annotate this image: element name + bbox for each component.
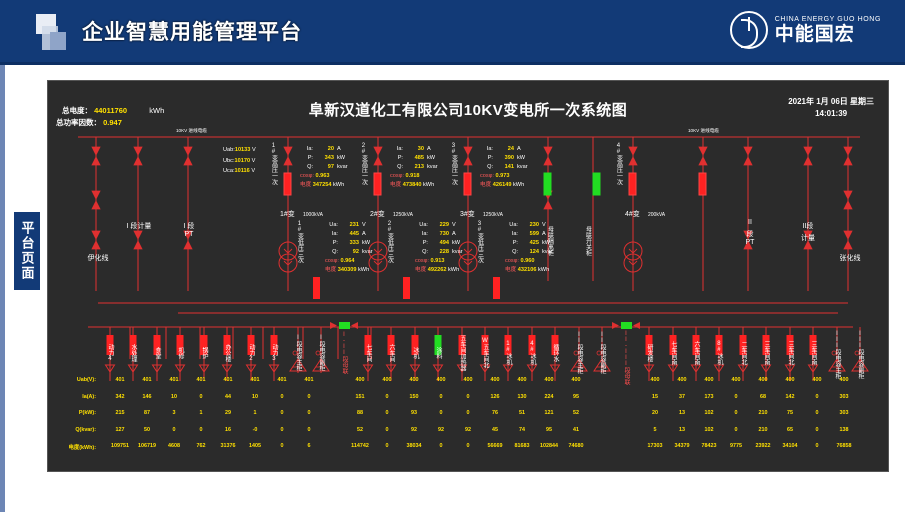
table-cell: 0: [298, 394, 320, 400]
table-cell: 75: [779, 410, 801, 416]
table-cell: 37: [671, 394, 693, 400]
table-cell: 400: [457, 377, 479, 383]
table-cell: 17303: [644, 443, 666, 449]
table-cell: 342: [109, 394, 131, 400]
table-cell: 0: [271, 410, 293, 416]
feeder-label[interactable]: 涂料: [435, 331, 441, 375]
table-cell: 81683: [511, 443, 533, 449]
table-row-label: Uab(V):: [54, 377, 96, 383]
table-cell: 3: [163, 410, 185, 416]
table-cell: 401: [109, 377, 131, 383]
table-cell: 4608: [163, 443, 185, 449]
table-cell: 38034: [403, 443, 425, 449]
table-cell: 0: [806, 394, 828, 400]
lv-meter-label-2: 2#变低压三次: [386, 219, 392, 265]
table-cell: 400: [833, 377, 855, 383]
feeder-label[interactable]: 三车间北: [787, 331, 793, 375]
table-cell: 0: [271, 427, 293, 433]
transformer-tag-3: 3#变: [460, 209, 475, 219]
table-cell: 0: [806, 410, 828, 416]
table-cell: 121: [538, 410, 560, 416]
single-line-diagram-panel: 总电度： 44011760 kWh 总功率因数： 0.947 阜新汉道化工有限公…: [47, 80, 889, 472]
table-cell: 0: [457, 394, 479, 400]
table-cell: 1: [190, 410, 212, 416]
feeder-label[interactable]: 三车间南: [810, 331, 816, 375]
table-cell: 0: [430, 410, 452, 416]
table-cell: 142: [779, 394, 801, 400]
hv-cabinet-label-8: 张化线: [828, 253, 872, 263]
feeder-label[interactable]: 动力4: [107, 331, 113, 375]
table-cell: 138: [833, 427, 855, 433]
transformer-rating-1: 1000kVA: [303, 212, 323, 218]
table-cell: 102844: [538, 443, 560, 449]
lv-meter-block-1: Ua:231V Ia:445A P:333kW Q:92kvar cosφ: 0…: [325, 221, 373, 275]
brand-mark-icon: [730, 11, 768, 49]
table-row: Ia(A):3421461004410001510150001261302249…: [54, 394, 884, 411]
feeder-label[interactable]: 办公楼: [224, 331, 230, 375]
table-cell: 9775: [725, 443, 747, 449]
table-cell: 400: [779, 377, 801, 383]
table-cell: 303: [833, 410, 855, 416]
table-cell: 0: [806, 443, 828, 449]
hv-cabinet-label-3: I 段: [166, 221, 212, 231]
feeder-label[interactable]: 锅炉: [201, 331, 207, 375]
feeder-label[interactable]: I段电容副柜: [318, 331, 324, 375]
table-cell: 50: [136, 427, 158, 433]
table-cell: 401: [163, 377, 185, 383]
feeder-label[interactable]: 研发楼: [646, 331, 652, 375]
feeder-label[interactable]: 8#冰机: [716, 331, 722, 375]
hv-meter-label-4: 4#变高压一次: [615, 143, 621, 185]
table-cell: 45: [484, 427, 506, 433]
hv-cabinet-label-5: 母联开关柜: [584, 221, 590, 261]
table-cell: 400: [565, 377, 587, 383]
table-cell: 74: [511, 427, 533, 433]
sidebar-item-platform-page[interactable]: 平台页面: [14, 212, 40, 290]
transformer-tag-2: 2#变: [370, 209, 385, 219]
hv-cabinet-label-6: II: [728, 219, 772, 226]
table-cell: 78423: [698, 443, 720, 449]
table-cell: 400: [538, 377, 560, 383]
feeder-label[interactable]: 4#冰机: [529, 331, 535, 375]
feeder-label[interactable]: 动力3: [271, 331, 277, 375]
table-cell: 65: [779, 427, 801, 433]
screen-root: 企业智慧用能管理平台 CHINA ENERGY GUO HONG 中能国宏 平台…: [0, 0, 905, 512]
table-cell: 0: [163, 427, 185, 433]
table-cell: 13: [671, 410, 693, 416]
table-cell: 151: [349, 394, 371, 400]
table-cell: 0: [725, 410, 747, 416]
table-cell: 0: [376, 427, 398, 433]
feeder-label[interactable]: 七车间: [365, 331, 371, 375]
table-cell: 210: [752, 427, 774, 433]
bus-voltage-readout: Uab:10133 V Ubc:10170 V Uca:10116 V: [223, 145, 256, 177]
table-cell: 401: [244, 377, 266, 383]
table-cell: 10: [163, 394, 185, 400]
feeder-label[interactable]: 三车间南: [763, 331, 769, 375]
table-cell: 31376: [217, 443, 239, 449]
hv-meter-block-3: Ia:24A P:390kW Q:141kvar cosφ: 0.973 电度 …: [480, 145, 528, 190]
table-cell: 34379: [671, 443, 693, 449]
header-divider: [0, 62, 905, 65]
table-cell: 401: [298, 377, 320, 383]
feeder-label[interactable]: III段电容主柜: [834, 331, 840, 375]
table-cell: 109751: [109, 443, 131, 449]
measurement-table: Uab(V):401401401401401401401401400400400…: [54, 377, 884, 460]
table-cell: 106719: [136, 443, 158, 449]
transformer-tag-1: 1#变: [280, 209, 295, 219]
table-cell: 400: [725, 377, 747, 383]
feeder-label[interactable]: III段电容副柜: [857, 331, 863, 375]
bus-tie-label[interactable]: II-III段母联: [623, 331, 629, 375]
table-cell: 400: [644, 377, 666, 383]
table-cell: 146: [136, 394, 158, 400]
table-cell: 0: [298, 410, 320, 416]
table-cell: 29: [217, 410, 239, 416]
table-cell: 224: [538, 394, 560, 400]
hv-cabinet-label-6b: 段: [728, 229, 772, 239]
table-cell: 0: [376, 394, 398, 400]
table-cell: 400: [484, 377, 506, 383]
table-cell: 5: [644, 427, 666, 433]
table-cell: 76: [484, 410, 506, 416]
feeder-label[interactable]: 食堂: [154, 331, 160, 375]
table-cell: 0: [190, 394, 212, 400]
table-row: 电度(kWh):10975110671946087623137614050611…: [54, 443, 884, 460]
table-cell: 68: [752, 394, 774, 400]
table-cell: 400: [671, 377, 693, 383]
table-cell: 0: [725, 427, 747, 433]
table-cell: 51: [511, 410, 533, 416]
table-cell: -0: [244, 427, 266, 433]
table-cell: 173: [698, 394, 720, 400]
table-cell: 0: [457, 443, 479, 449]
table-cell: 0: [725, 394, 747, 400]
hv-cabinet-label-1: 伊化线: [76, 253, 120, 263]
lv-meter-label-1: 1#变低压三次: [296, 219, 302, 265]
table-cell: 762: [190, 443, 212, 449]
table-cell: 127: [109, 427, 131, 433]
feeder-label[interactable]: 机修: [177, 331, 183, 375]
table-cell: 215: [109, 410, 131, 416]
hv-cabinet-label-7: II段: [784, 221, 832, 231]
table-cell: 400: [511, 377, 533, 383]
table-row: Uab(V):401401401401401401401401400400400…: [54, 377, 884, 394]
table-cell: 0: [271, 443, 293, 449]
feeder-label[interactable]: 动力2: [248, 331, 254, 375]
table-cell: 76858: [833, 443, 855, 449]
table-cell: 1: [244, 410, 266, 416]
hv-cabinet-label-4: 母联隔离柜: [546, 221, 552, 261]
hv-meter-block-2: Ia:30A P:485kW Q:213kvar cosφ: 0.918 电度 …: [390, 145, 438, 190]
table-cell: 34104: [779, 443, 801, 449]
hv-meter-label-2: 2#变高压一次: [360, 143, 366, 185]
table-cell: 400: [403, 377, 425, 383]
hv-meter-label-1: 1#变高压一次: [270, 143, 276, 185]
table-cell: 401: [271, 377, 293, 383]
table-cell: 0: [298, 427, 320, 433]
feeder-label[interactable]: 五车间加热器: [459, 331, 465, 375]
table-cell: 52: [349, 427, 371, 433]
table-row: Q(kvar):127500016-0005209292924574954151…: [54, 427, 884, 444]
table-cell: 41: [565, 427, 587, 433]
table-cell: 1405: [244, 443, 266, 449]
table-cell: 95: [565, 394, 587, 400]
brand-chinese-name: 中能国宏: [775, 25, 881, 44]
table-cell: 0: [376, 443, 398, 449]
table-cell: 74680: [565, 443, 587, 449]
table-cell: 130: [511, 394, 533, 400]
table-cell: 400: [376, 377, 398, 383]
table-cell: 13: [671, 427, 693, 433]
feeder-label[interactable]: W五车间北: [482, 331, 488, 375]
table-cell: 401: [136, 377, 158, 383]
table-row-label: Q(kvar):: [54, 427, 96, 433]
table-cell: 6: [298, 443, 320, 449]
hv-cabinet-label-3b: PT: [166, 231, 212, 238]
table-cell: 0: [190, 427, 212, 433]
hv-cabinet-label-2: I 段计量: [116, 221, 162, 231]
table-cell: 10: [244, 394, 266, 400]
app-header: 企业智慧用能管理平台 CHINA ENERGY GUO HONG 中能国宏: [0, 0, 905, 62]
lv-meter-block-2: Ua:229V Ia:730A P:494kW Q:228kvar cosφ: …: [415, 221, 463, 275]
page-title: 企业智慧用能管理平台: [82, 16, 302, 46]
table-row: P(kW):2158731291008809300765112152201310…: [54, 410, 884, 427]
lv-meter-label-3: 3#变低压三次: [476, 219, 482, 265]
feeder-label[interactable]: 二车间北: [740, 331, 746, 375]
hv-cabinet-label-7b: 计量: [784, 233, 832, 243]
table-cell: 95: [538, 427, 560, 433]
table-row-label: Ia(A):: [54, 394, 96, 400]
table-cell: 210: [752, 410, 774, 416]
table-cell: 102: [698, 410, 720, 416]
table-row-label: P(kW):: [54, 410, 96, 416]
table-cell: 400: [806, 377, 828, 383]
table-cell: 0: [457, 410, 479, 416]
hv-meter-label-3: 3#变高压一次: [450, 143, 456, 185]
table-cell: 401: [217, 377, 239, 383]
table-cell: 92: [430, 427, 452, 433]
table-cell: 102: [698, 427, 720, 433]
table-cell: 0: [430, 394, 452, 400]
feeder-label[interactable]: I段电容主柜: [295, 331, 301, 375]
table-cell: 44: [217, 394, 239, 400]
bus-tie-label[interactable]: I-II段母联: [341, 331, 347, 375]
brand-english-name: CHINA ENERGY GUO HONG: [775, 16, 881, 23]
feeder-label[interactable]: 水处理: [130, 331, 136, 375]
feeder-label[interactable]: II段电容副柜: [599, 331, 605, 375]
table-cell: 400: [349, 377, 371, 383]
transformer-rating-3: 1250kVA: [483, 212, 503, 218]
table-cell: 88: [349, 410, 371, 416]
left-rail: [0, 65, 5, 512]
hv-meter-block-1: Ia:20A P:343kW Q:97kvar cosφ: 0.963 电度 3…: [300, 145, 348, 190]
feeder-label[interactable]: II段电容主柜: [576, 331, 582, 375]
table-cell: 0: [376, 410, 398, 416]
table-cell: 20: [644, 410, 666, 416]
table-cell: 52: [565, 410, 587, 416]
transformer-rating-2: 1250kVA: [393, 212, 413, 218]
feeder-label[interactable]: 1#冰机: [505, 331, 511, 375]
table-cell: 0: [806, 427, 828, 433]
feeder-label[interactable]: 六车间: [388, 331, 394, 375]
table-cell: 400: [430, 377, 452, 383]
table-cell: 23922: [752, 443, 774, 449]
feeder-label[interactable]: 六车间南: [693, 331, 699, 375]
table-cell: 0: [271, 394, 293, 400]
table-cell: 401: [190, 377, 212, 383]
table-cell: 303: [833, 394, 855, 400]
table-cell: 400: [752, 377, 774, 383]
table-cell: 92: [457, 427, 479, 433]
table-cell: 150: [403, 394, 425, 400]
table-row-label: 电度(kWh):: [54, 443, 96, 451]
table-cell: 126: [484, 394, 506, 400]
table-cell: 56669: [484, 443, 506, 449]
table-cell: 16: [217, 427, 239, 433]
table-cell: 114742: [349, 443, 371, 449]
feeder-label[interactable]: 七车间南: [670, 331, 676, 375]
app-logo-icon: [36, 14, 72, 50]
transformer-rating-4: 200kVA: [648, 212, 665, 218]
hv-cabinet-label-6c: PT: [728, 239, 772, 246]
feeder-label[interactable]: 循环水: [552, 331, 558, 375]
table-cell: 400: [698, 377, 720, 383]
table-cell: 0: [430, 443, 452, 449]
table-cell: 87: [136, 410, 158, 416]
table-cell: 93: [403, 410, 425, 416]
table-cell: 15: [644, 394, 666, 400]
feeder-label[interactable]: 冰机: [412, 331, 418, 375]
brand-logo: CHINA ENERGY GUO HONG 中能国宏: [730, 11, 881, 49]
transformer-tag-4: 4#变: [625, 209, 640, 219]
table-cell: 92: [403, 427, 425, 433]
